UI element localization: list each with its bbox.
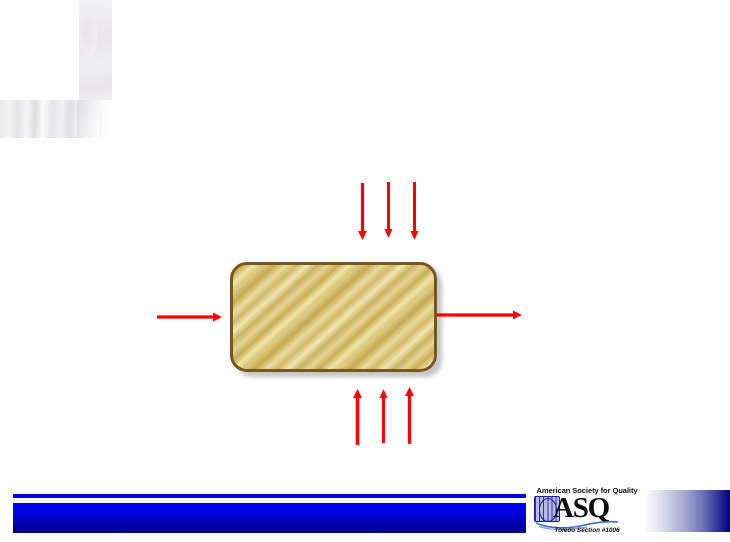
- background-watermark-image: [79, 0, 112, 107]
- asq-wordmark: ASQ: [553, 493, 609, 523]
- background-watermark-strip: [0, 100, 113, 138]
- top-arrow-1: [355, 178, 371, 246]
- bottom-arrow-1: [350, 384, 366, 450]
- output-arrow-right: [431, 304, 529, 326]
- input-arrow-left: [150, 306, 230, 328]
- process-box[interactable]: [230, 262, 437, 372]
- background-watermark-image-lower: [79, 100, 112, 138]
- slide-canvas: American Society for Quality ASQ Toledo …: [0, 0, 730, 542]
- asq-logo[interactable]: American Society for Quality ASQ Toledo …: [531, 484, 643, 536]
- bottom-arrow-3: [402, 383, 418, 449]
- top-arrow-3: [407, 177, 423, 245]
- top-arrow-2: [381, 177, 397, 245]
- footer-right-gradient: [645, 490, 730, 532]
- bottom-arrow-2: [376, 384, 392, 450]
- asq-tagline-bottom: Toledo Section #1006: [531, 527, 643, 534]
- footer-thick-bar: [13, 503, 526, 533]
- footer-thin-bar: [13, 494, 526, 498]
